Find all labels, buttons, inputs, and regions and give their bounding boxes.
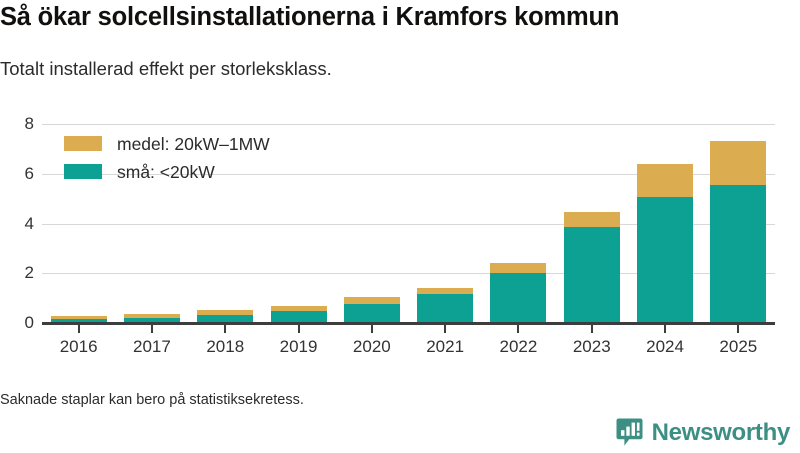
bar-segment[interactable] <box>417 288 473 294</box>
legend-label: små: <20kW <box>117 162 215 182</box>
bar-segment[interactable] <box>344 304 400 323</box>
bar-group[interactable] <box>490 263 546 323</box>
x-axis-tick-label: 2019 <box>259 337 339 357</box>
x-axis-tick-label: 2022 <box>478 337 558 357</box>
newsworthy-logo[interactable]: Newsworthy <box>616 418 790 448</box>
bar-group[interactable] <box>344 297 400 323</box>
bar-segment[interactable] <box>490 263 546 273</box>
bar-segment[interactable] <box>124 314 180 318</box>
bar-segment[interactable] <box>637 164 693 198</box>
chart-legend: medel: 20kW–1MWsmå: <20kW <box>64 131 270 187</box>
bar-segment[interactable] <box>197 310 253 315</box>
x-axis-tick-label: 2025 <box>698 337 778 357</box>
bar-segment[interactable] <box>710 141 766 185</box>
x-axis-tick <box>298 325 300 333</box>
y-axis-tick-label: 8 <box>4 115 34 132</box>
bar-segment[interactable] <box>564 212 620 227</box>
legend-item[interactable]: små: <20kW <box>64 159 270 184</box>
x-axis-tick <box>151 325 153 333</box>
x-axis-tick <box>664 325 666 333</box>
y-axis-tick-label: 2 <box>4 264 34 281</box>
x-axis-tick-label: 2017 <box>112 337 192 357</box>
x-axis-tick <box>371 325 373 333</box>
y-axis-tick-label: 6 <box>4 165 34 182</box>
chart-footnote: Saknade staplar kan bero på statistiksek… <box>0 391 304 409</box>
legend-item[interactable]: medel: 20kW–1MW <box>64 131 270 156</box>
brand-name: Newsworthy <box>652 420 790 446</box>
bar-segment[interactable] <box>417 294 473 323</box>
bar-segment[interactable] <box>637 197 693 323</box>
legend-swatch <box>64 164 102 179</box>
bar-segment[interactable] <box>51 316 107 319</box>
legend-label: medel: 20kW–1MW <box>117 134 270 154</box>
bar-group[interactable] <box>564 212 620 323</box>
x-axis-tick <box>591 325 593 333</box>
x-axis-tick-label: 2016 <box>39 337 119 357</box>
bar-segment[interactable] <box>271 306 327 311</box>
bar-segment[interactable] <box>490 273 546 323</box>
y-axis-tick-label: 0 <box>4 314 34 331</box>
x-axis-tick <box>224 325 226 333</box>
x-axis-tick <box>517 325 519 333</box>
bar-chart-speech-bubble-icon <box>616 418 643 448</box>
x-axis-tick-label: 2023 <box>552 337 632 357</box>
x-axis-tick-label: 2024 <box>625 337 705 357</box>
bar-segment[interactable] <box>344 297 400 303</box>
y-axis-tick-label: 4 <box>4 215 34 232</box>
bar-segment[interactable] <box>710 185 766 323</box>
x-axis-tick <box>737 325 739 333</box>
x-axis-tick <box>78 325 80 333</box>
bar-group[interactable] <box>271 306 327 323</box>
bar-group[interactable] <box>637 164 693 323</box>
x-axis-tick-label: 2020 <box>332 337 412 357</box>
bar-segment[interactable] <box>564 227 620 323</box>
legend-swatch <box>64 136 102 151</box>
bar-group[interactable] <box>710 141 766 323</box>
x-axis-tick-label: 2021 <box>405 337 485 357</box>
bar-group[interactable] <box>417 288 473 323</box>
x-axis-tick-label: 2018 <box>185 337 265 357</box>
x-axis-tick <box>444 325 446 333</box>
chart-container: Så ökar solcellsinstallationerna i Kramf… <box>0 0 800 450</box>
